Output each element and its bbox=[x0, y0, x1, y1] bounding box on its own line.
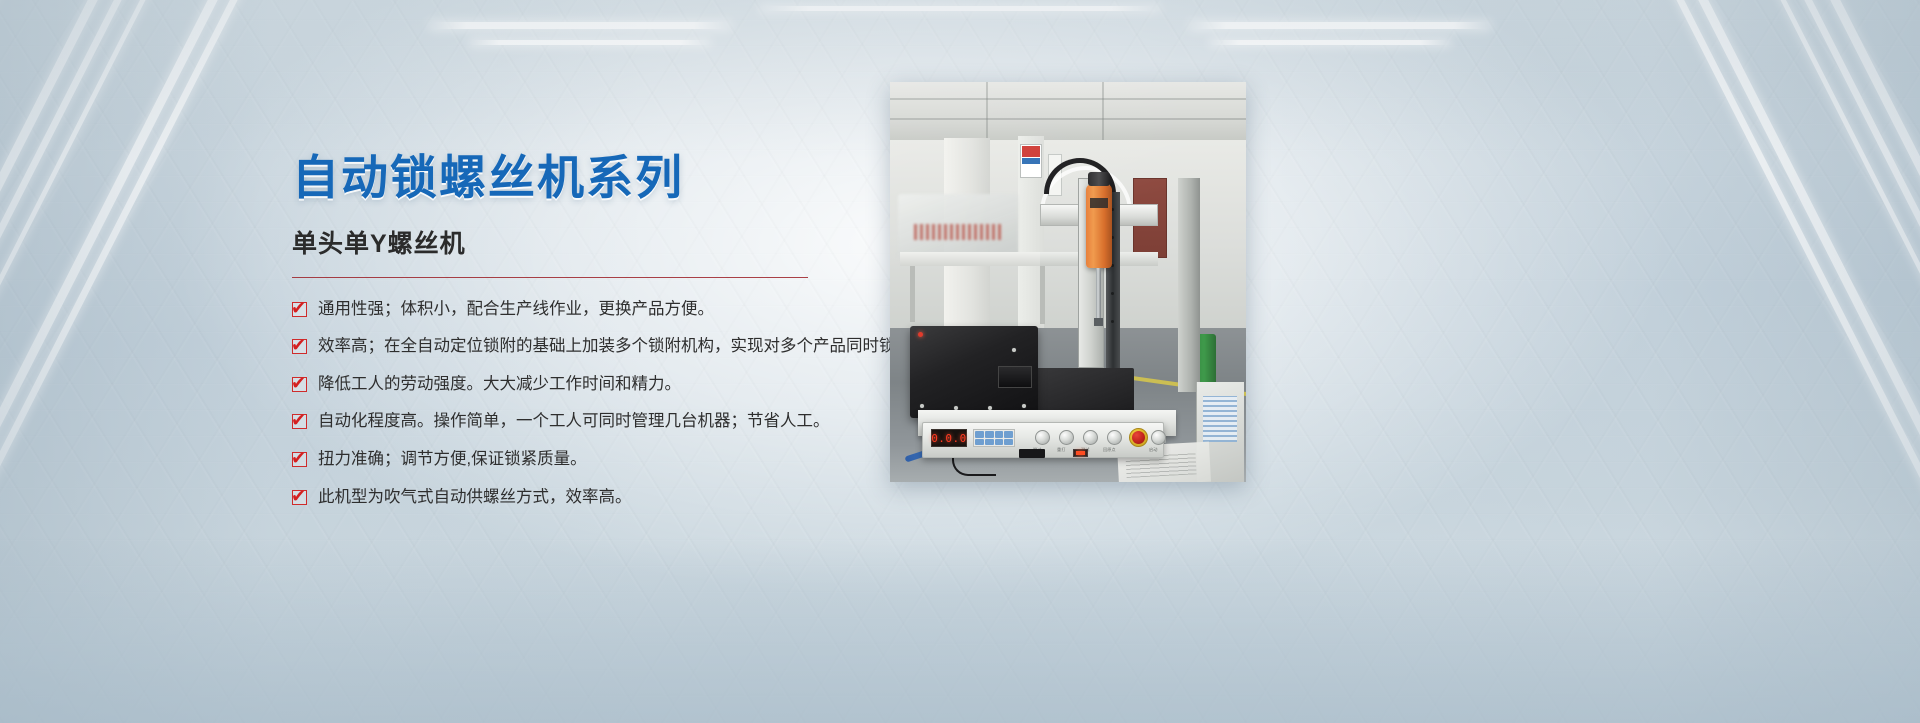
ceiling-light-4 bbox=[1210, 40, 1450, 45]
machine-screwdriver-bit bbox=[1096, 268, 1101, 320]
product-photo-image: 0.0.0 跳过 重打 测试 回原点 急停 启动 bbox=[890, 82, 1246, 482]
check-mark-icon: ✔ bbox=[292, 377, 307, 392]
light-streak-left-9 bbox=[0, 0, 293, 723]
light-streak-left-4 bbox=[0, 0, 87, 723]
light-streak-left-7 bbox=[0, 0, 245, 723]
photo-bench-leg bbox=[910, 266, 915, 322]
check-mark-icon: ✔ bbox=[292, 414, 307, 429]
ceiling-light-1 bbox=[430, 22, 730, 29]
light-streak-right-10 bbox=[1551, 0, 1920, 723]
ceiling-light-2 bbox=[470, 40, 710, 45]
title-divider bbox=[292, 277, 808, 278]
photo-ceiling-beam bbox=[890, 118, 1246, 120]
feature-text: 自动化程度高。操作简单，一个工人可同时管理几台机器；节省人工。 bbox=[318, 411, 830, 432]
panel-power-switch[interactable] bbox=[1073, 449, 1088, 457]
panel-display-value: 0.0.0 bbox=[931, 432, 967, 445]
photo-frame-rail bbox=[1178, 178, 1200, 392]
light-streak-right-5 bbox=[1817, 0, 1920, 723]
light-streak-right-8 bbox=[1657, 0, 1920, 723]
photo-ceiling-beam bbox=[890, 98, 1246, 100]
panel-button-start-label: 启动 bbox=[1149, 447, 1157, 453]
feature-list: ✔ 通用性强；体积小，配合生产线作业，更换产品方便。 ✔ 效率高；在全自动定位锁… bbox=[292, 299, 892, 508]
photo-safety-sign bbox=[1020, 144, 1042, 178]
light-streak-right-7 bbox=[1683, 0, 1920, 723]
product-photo: 0.0.0 跳过 重打 测试 回原点 急停 启动 bbox=[890, 82, 1246, 482]
banner-content: 自动锁螺丝机系列 单头单Y螺丝机 ✔ 通用性强；体积小，配合生产线作业，更换产品… bbox=[292, 152, 892, 508]
feature-text: 效率高；在全自动定位锁附的基础上加装多个锁附机构，实现对多个产品同时锁附。 bbox=[318, 336, 929, 357]
list-item: ✔ 通用性强；体积小，配合生产线作业，更换产品方便。 bbox=[292, 299, 892, 320]
panel-connector-port bbox=[1019, 449, 1045, 458]
feature-text: 降低工人的劳动强度。大大减少工作时间和精力。 bbox=[318, 374, 681, 395]
panel-button-skip[interactable] bbox=[1035, 430, 1050, 445]
light-streak-right-6 bbox=[1791, 0, 1920, 723]
photo-ceiling bbox=[890, 82, 1246, 144]
panel-button-reprint[interactable] bbox=[1059, 430, 1074, 445]
photo-background-machine bbox=[898, 194, 1018, 260]
light-streak-right-11 bbox=[1529, 0, 1920, 723]
feature-text: 扭力准确；调节方便,保证锁紧质量。 bbox=[318, 449, 587, 470]
panel-button-home-label: 回原点 bbox=[1103, 447, 1116, 453]
panel-button-reprint-label: 重打 bbox=[1057, 447, 1065, 453]
background-floor-band bbox=[0, 543, 1920, 723]
panel-keypad[interactable] bbox=[973, 429, 1015, 447]
product-banner: 自动锁螺丝机系列 单头单Y螺丝机 ✔ 通用性强；体积小，配合生产线作业，更换产品… bbox=[0, 0, 1920, 723]
light-streak-right-9 bbox=[1633, 0, 1920, 723]
list-item: ✔ 自动化程度高。操作简单，一个工人可同时管理几台机器；节省人工。 bbox=[292, 411, 892, 432]
page-title: 自动锁螺丝机系列 bbox=[292, 152, 892, 205]
check-mark-icon: ✔ bbox=[292, 339, 307, 354]
check-mark-icon: ✔ bbox=[292, 452, 307, 467]
list-item: ✔ 效率高；在全自动定位锁附的基础上加装多个锁附机构，实现对多个产品同时锁附。 bbox=[292, 336, 892, 357]
panel-led-display: 0.0.0 bbox=[931, 429, 967, 447]
panel-button-start[interactable] bbox=[1151, 430, 1166, 445]
photo-workbench bbox=[900, 252, 1060, 266]
list-item: ✔ 此机型为吹气式自动供螺丝方式，效率高。 bbox=[292, 487, 892, 508]
ceiling-light-3 bbox=[1190, 22, 1490, 29]
panel-button-test[interactable] bbox=[1083, 430, 1098, 445]
feature-text: 此机型为吹气式自动供螺丝方式，效率高。 bbox=[318, 487, 632, 508]
list-item: ✔ 降低工人的劳动强度。大大减少工作时间和精力。 bbox=[292, 374, 892, 395]
list-item: ✔ 扭力准确；调节方便,保证锁紧质量。 bbox=[292, 449, 892, 470]
light-streak-left-6 bbox=[0, 0, 143, 723]
machine-control-panel: 0.0.0 跳过 重打 测试 回原点 急停 启动 bbox=[922, 422, 1164, 458]
photo-ceiling-beam bbox=[986, 82, 988, 144]
check-mark-icon: ✔ bbox=[292, 490, 307, 505]
check-mark-icon: ✔ bbox=[292, 302, 307, 317]
panel-button-home[interactable] bbox=[1107, 430, 1122, 445]
light-streak-right-4 bbox=[1845, 0, 1920, 723]
light-streak-left-8 bbox=[0, 0, 269, 723]
machine-rail-bolt bbox=[1111, 320, 1114, 323]
light-streak-left-5 bbox=[0, 0, 117, 723]
page-subtitle: 单头单Y螺丝机 bbox=[292, 224, 892, 260]
machine-bit-tip bbox=[1094, 318, 1103, 326]
machine-electric-screwdriver bbox=[1086, 184, 1112, 268]
ceiling-light-5 bbox=[760, 6, 1160, 11]
panel-emergency-stop-button[interactable] bbox=[1129, 428, 1148, 447]
machine-rail-bolt bbox=[1111, 292, 1114, 295]
machine-screw-feeder bbox=[910, 326, 1038, 418]
feature-text: 通用性强；体积小，配合生产线作业，更换产品方便。 bbox=[318, 299, 714, 320]
photo-ceiling-beam bbox=[1102, 82, 1104, 144]
photo-bench-leg bbox=[1040, 266, 1045, 324]
